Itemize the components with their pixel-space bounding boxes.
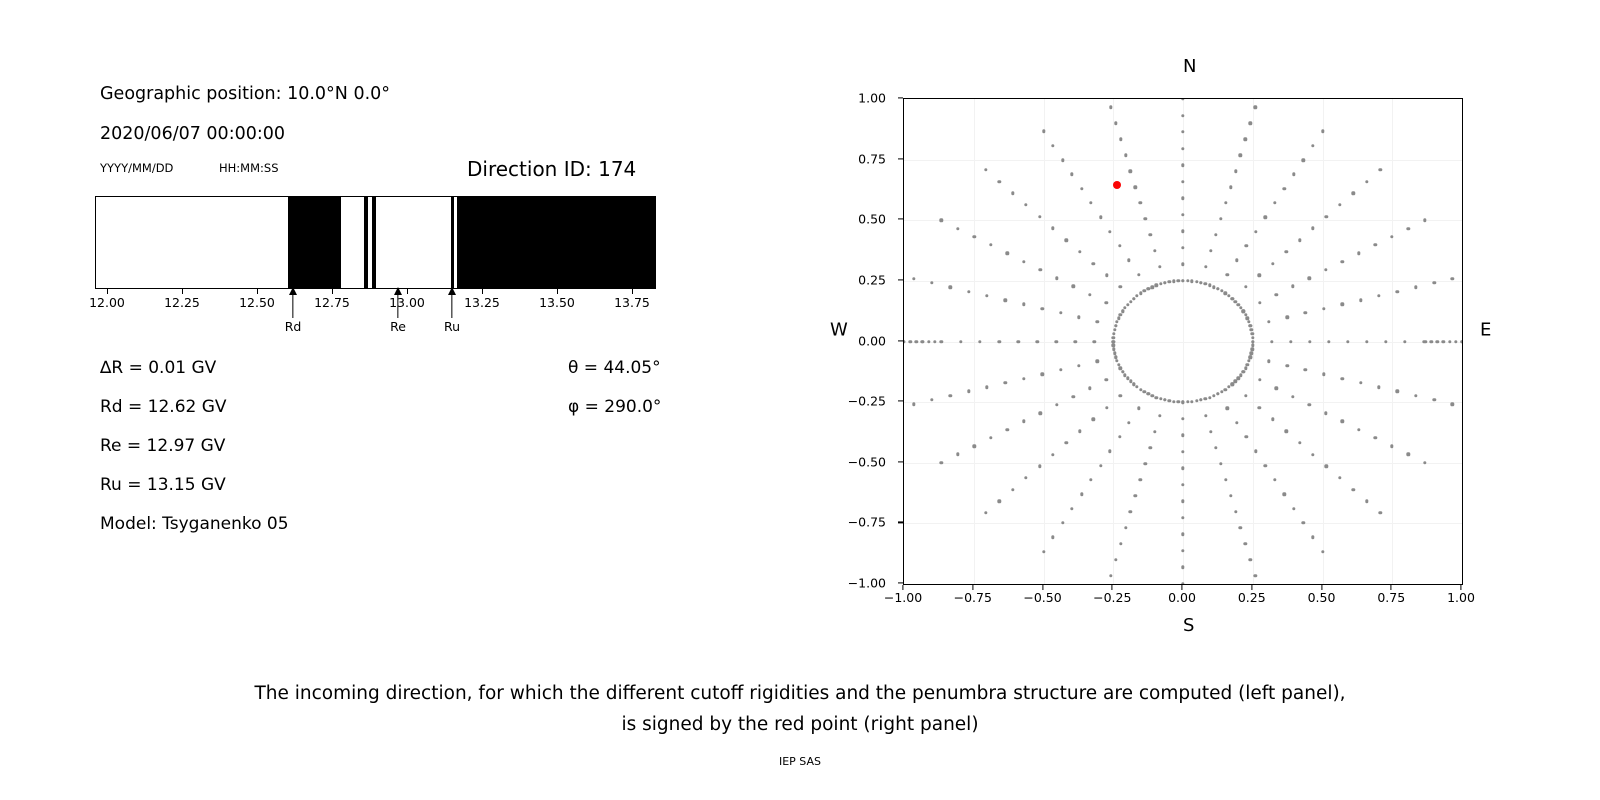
sky-direction-dot bbox=[1234, 169, 1237, 172]
sky-inner-ring-dot bbox=[1224, 388, 1227, 391]
sky-direction-dot bbox=[1311, 535, 1314, 538]
sky-direction-dot bbox=[1365, 500, 1368, 503]
sky-direction-dot bbox=[1039, 268, 1042, 271]
sky-inner-ring-dot bbox=[1126, 303, 1129, 306]
cutoff-value-line: Re = 12.97 GV bbox=[100, 436, 225, 456]
footer-credit: IEP SAS bbox=[0, 755, 1600, 768]
sky-inner-ring-dot bbox=[1195, 280, 1198, 283]
sky-horizon-dot bbox=[1454, 340, 1457, 343]
sky-direction-dot bbox=[984, 511, 987, 514]
sky-direction-dot bbox=[984, 168, 987, 171]
penumbra-axis-tick-label: 12.25 bbox=[164, 295, 200, 310]
angle-value-line: φ = 290.0° bbox=[568, 397, 661, 417]
sky-direction-dot bbox=[1093, 340, 1096, 343]
sky-direction-dot bbox=[1089, 478, 1092, 481]
figure-caption: The incoming direction, for which the di… bbox=[0, 678, 1600, 740]
sky-direction-dot bbox=[1273, 478, 1276, 481]
sky-inner-ring-dot bbox=[1159, 397, 1162, 400]
sky-inner-ring-dot bbox=[1123, 306, 1126, 309]
cutoff-marker-label: Rd bbox=[285, 319, 302, 334]
sky-horizon-dot bbox=[927, 340, 930, 343]
sky-direction-dot bbox=[1109, 106, 1112, 109]
sky-direction-dot bbox=[1258, 406, 1261, 409]
sky-inner-ring-dot bbox=[1155, 396, 1158, 399]
sky-direction-dot bbox=[1264, 464, 1267, 467]
sky-direction-dot bbox=[1324, 411, 1327, 414]
sky-direction-dot bbox=[1270, 340, 1273, 343]
sky-inner-ring-dot bbox=[1112, 348, 1115, 351]
grid-line-vertical bbox=[1323, 99, 1324, 584]
sky-direction-dot bbox=[1244, 138, 1247, 141]
sky-inner-ring-dot bbox=[1186, 279, 1189, 282]
penumbra-panel: Geographic position: 10.0°N 0.0° 2020/06… bbox=[0, 0, 760, 660]
sky-direction-dot bbox=[1327, 340, 1330, 343]
sky-direction-dot bbox=[1244, 542, 1247, 545]
sky-y-axis-tick-label: 0.50 bbox=[858, 212, 886, 227]
sky-direction-dot bbox=[1283, 187, 1286, 190]
penumbra-axis-tick bbox=[107, 289, 108, 294]
sky-direction-dot bbox=[1051, 535, 1054, 538]
sky-direction-dot bbox=[1373, 436, 1376, 439]
sky-inner-ring-dot bbox=[1237, 377, 1240, 380]
sky-direction-dot bbox=[1042, 130, 1045, 133]
sky-direction-dot bbox=[1283, 493, 1286, 496]
sky-direction-dot bbox=[1298, 441, 1301, 444]
sky-direction-dot bbox=[1249, 558, 1252, 561]
sky-direction-dot bbox=[1258, 378, 1261, 381]
sky-direction-dot bbox=[1284, 429, 1287, 432]
penumbra-axis-tick bbox=[257, 289, 258, 294]
sky-direction-dot bbox=[973, 445, 976, 448]
sky-inner-ring-dot bbox=[1119, 313, 1122, 316]
sky-y-axis-tick-label: 0.00 bbox=[858, 333, 886, 348]
sky-direction-dot bbox=[1181, 500, 1184, 503]
sky-direction-dot bbox=[1071, 285, 1074, 288]
sky-direction-dot bbox=[1051, 453, 1054, 456]
sky-direction-dot bbox=[1414, 394, 1417, 397]
sky-direction-dot bbox=[1065, 238, 1068, 241]
sky-direction-dot bbox=[930, 281, 933, 284]
sky-horizon-dot bbox=[1442, 340, 1445, 343]
sky-x-axis-tick-label: −0.75 bbox=[954, 590, 992, 605]
sky-inner-ring-dot bbox=[1135, 294, 1138, 297]
grid-line-vertical bbox=[1392, 99, 1393, 584]
sky-direction-dot bbox=[1124, 153, 1127, 156]
sky-direction-dot bbox=[1139, 201, 1142, 204]
penumbra-x-axis: 12.0012.2512.5012.7513.0013.2513.5013.75… bbox=[95, 289, 656, 303]
cutoff-value-line: Ru = 13.15 GV bbox=[100, 475, 226, 495]
sky-direction-dot bbox=[1384, 340, 1387, 343]
sky-direction-dot bbox=[1292, 507, 1295, 510]
sky-direction-dot bbox=[1258, 301, 1261, 304]
penumbra-axis-tick-label: 13.75 bbox=[614, 295, 650, 310]
sky-y-axis-tick bbox=[898, 340, 903, 341]
sky-direction-dot bbox=[1059, 368, 1062, 371]
arrow-up-icon bbox=[289, 287, 297, 295]
sky-direction-dot bbox=[1042, 550, 1045, 553]
sky-direction-dot bbox=[1118, 244, 1121, 247]
sky-inner-ring-dot bbox=[1220, 390, 1223, 393]
sky-direction-dot bbox=[1377, 385, 1380, 388]
sky-direction-dot bbox=[1004, 298, 1007, 301]
sky-y-axis-tick-label: −0.25 bbox=[848, 394, 886, 409]
sky-direction-dot bbox=[1321, 130, 1324, 133]
sky-map-plot-area bbox=[903, 98, 1463, 585]
sky-direction-dot bbox=[1108, 230, 1111, 233]
sky-direction-dot bbox=[1359, 298, 1362, 301]
sky-inner-ring-dot bbox=[1239, 373, 1242, 376]
sky-direction-dot bbox=[1096, 320, 1099, 323]
sky-y-axis-tick bbox=[898, 582, 903, 583]
sky-direction-dot bbox=[1148, 446, 1151, 449]
sky-direction-dot bbox=[1325, 215, 1328, 218]
sky-direction-dot bbox=[1244, 285, 1247, 288]
sky-direction-dot bbox=[1322, 373, 1325, 376]
sky-direction-dot bbox=[997, 180, 1000, 183]
sky-direction-dot bbox=[1275, 293, 1278, 296]
sky-direction-dot bbox=[1359, 381, 1362, 384]
sky-horizon-dot bbox=[1423, 340, 1426, 343]
sky-direction-dot bbox=[1271, 418, 1274, 421]
sky-direction-dot bbox=[1254, 574, 1257, 577]
sky-direction-dot bbox=[949, 394, 952, 397]
sky-direction-dot bbox=[1092, 262, 1095, 265]
compass-label-east: E bbox=[1480, 320, 1491, 341]
sky-direction-dot bbox=[1226, 407, 1229, 410]
sky-direction-dot bbox=[1226, 273, 1229, 276]
sky-direction-dot bbox=[967, 290, 970, 293]
sky-direction-dot bbox=[1291, 285, 1294, 288]
sky-direction-dot bbox=[1181, 213, 1184, 216]
sky-y-axis-tick-label: −1.00 bbox=[848, 576, 886, 591]
sky-direction-dot bbox=[1006, 252, 1009, 255]
sky-y-axis-tick-label: −0.50 bbox=[848, 454, 886, 469]
sky-inner-ring-dot bbox=[1227, 385, 1230, 388]
sky-direction-dot bbox=[1139, 478, 1142, 481]
sky-direction-dot bbox=[1088, 387, 1091, 390]
sky-horizon-dot bbox=[915, 340, 918, 343]
sky-direction-dot bbox=[1258, 274, 1261, 277]
sky-direction-dot bbox=[1011, 192, 1014, 195]
sky-direction-dot bbox=[1204, 265, 1207, 268]
sky-direction-dot bbox=[1127, 421, 1130, 424]
sky-x-axis-tick-label: 0.00 bbox=[1168, 590, 1196, 605]
sky-direction-dot bbox=[1181, 483, 1184, 486]
sky-direction-dot bbox=[1080, 187, 1083, 190]
sky-direction-dot bbox=[1070, 507, 1073, 510]
sky-direction-dot bbox=[1346, 340, 1349, 343]
sky-direction-dot bbox=[1016, 340, 1019, 343]
sky-direction-dot bbox=[1109, 574, 1112, 577]
sky-x-axis-tick-label: 0.25 bbox=[1238, 590, 1266, 605]
sky-direction-dot bbox=[1181, 263, 1184, 266]
sky-direction-dot bbox=[997, 340, 1000, 343]
sky-direction-dot bbox=[1024, 203, 1027, 206]
sky-horizon-dot bbox=[908, 340, 911, 343]
geographic-position-label: Geographic position: 10.0°N 0.0° bbox=[100, 84, 390, 104]
sky-direction-dot bbox=[1070, 173, 1073, 176]
sky-inner-ring-dot bbox=[1242, 370, 1245, 373]
sky-direction-dot bbox=[1153, 430, 1156, 433]
penumbra-axis-tick-label: 13.50 bbox=[539, 295, 575, 310]
sky-direction-dot bbox=[1322, 307, 1325, 310]
sky-direction-dot bbox=[1292, 173, 1295, 176]
sky-direction-dot bbox=[1181, 230, 1184, 233]
sky-direction-dot bbox=[1104, 378, 1107, 381]
sky-direction-dot bbox=[1423, 219, 1426, 222]
sky-inner-ring-dot bbox=[1112, 332, 1115, 335]
cutoff-value-line: ∆R = 0.01 GV bbox=[100, 358, 216, 378]
sky-x-axis-tick-label: −0.50 bbox=[1023, 590, 1061, 605]
sky-inner-ring-dot bbox=[1146, 287, 1149, 290]
penumbra-axis-tick-label: 12.75 bbox=[314, 295, 350, 310]
sky-direction-dot bbox=[1181, 566, 1184, 569]
sky-inner-ring-dot bbox=[1212, 285, 1215, 288]
direction-id-label: Direction ID: 174 bbox=[467, 157, 636, 181]
sky-direction-dot bbox=[1291, 395, 1294, 398]
sky-inner-ring-dot bbox=[1159, 282, 1162, 285]
sky-direction-dot bbox=[1311, 453, 1314, 456]
sky-direction-dot bbox=[1273, 201, 1276, 204]
sky-direction-dot bbox=[1341, 377, 1344, 380]
sky-inner-ring-dot bbox=[1251, 340, 1254, 343]
sky-inner-ring-dot bbox=[1246, 363, 1249, 366]
sky-inner-ring-dot bbox=[1114, 324, 1117, 327]
sky-direction-dot bbox=[1365, 180, 1368, 183]
sky-direction-dot bbox=[1396, 290, 1399, 293]
sky-direction-dot bbox=[989, 436, 992, 439]
sky-direction-dot bbox=[956, 453, 959, 456]
sky-direction-dot bbox=[1119, 285, 1122, 288]
sky-direction-dot bbox=[1022, 303, 1025, 306]
sky-direction-dot bbox=[1204, 414, 1207, 417]
sky-direction-dot bbox=[985, 294, 988, 297]
sky-direction-dot bbox=[1124, 526, 1127, 529]
sky-direction-dot bbox=[1119, 542, 1122, 545]
penumbra-forbidden-band bbox=[288, 197, 341, 288]
penumbra-axis-tick bbox=[632, 289, 633, 294]
sky-inner-ring-dot bbox=[1190, 280, 1193, 283]
sky-direction-dot bbox=[940, 461, 943, 464]
sky-inner-ring-dot bbox=[1146, 392, 1149, 395]
penumbra-axis-tick-label: 12.00 bbox=[89, 295, 125, 310]
sky-inner-ring-dot bbox=[1112, 344, 1115, 347]
sky-direction-dot bbox=[1129, 510, 1132, 513]
sky-y-axis-tick bbox=[898, 97, 903, 98]
sky-y-axis-tick bbox=[898, 158, 903, 159]
sky-direction-dot bbox=[1024, 476, 1027, 479]
sky-direction-dot bbox=[1181, 114, 1184, 117]
sky-inner-ring-dot bbox=[1249, 324, 1252, 327]
penumbra-axis-tick bbox=[407, 289, 408, 294]
sky-inner-ring-dot bbox=[1234, 380, 1237, 383]
sky-inner-ring-dot bbox=[1181, 400, 1184, 403]
sky-map-panel: N S W E 1.000.750.500.250.00−0.25−0.50−0… bbox=[820, 40, 1520, 660]
sky-direction-dot bbox=[1181, 467, 1184, 470]
sky-direction-dot bbox=[1235, 259, 1238, 262]
sky-direction-dot bbox=[1414, 286, 1417, 289]
sky-direction-dot bbox=[1134, 494, 1137, 497]
sky-direction-dot bbox=[1325, 465, 1328, 468]
sky-direction-dot bbox=[1224, 478, 1227, 481]
sky-inner-ring-dot bbox=[1172, 280, 1175, 283]
sky-inner-ring-dot bbox=[1181, 279, 1184, 282]
sky-direction-dot bbox=[1302, 158, 1305, 161]
sky-direction-dot bbox=[1055, 403, 1058, 406]
sky-direction-dot bbox=[1324, 268, 1327, 271]
sky-y-axis-tick-label: 0.25 bbox=[858, 272, 886, 287]
sky-direction-dot bbox=[1022, 377, 1025, 380]
sky-inner-ring-dot bbox=[1244, 367, 1247, 370]
sky-direction-dot bbox=[989, 243, 992, 246]
sky-inner-ring-dot bbox=[1231, 383, 1234, 386]
sky-direction-dot bbox=[1311, 144, 1314, 147]
cutoff-value-line: Model: Tsyganenko 05 bbox=[100, 514, 289, 534]
sky-direction-dot bbox=[1118, 435, 1121, 438]
sky-direction-dot bbox=[1239, 153, 1242, 156]
sky-direction-dot bbox=[1352, 192, 1355, 195]
penumbra-bar-container bbox=[95, 196, 656, 289]
sky-direction-dot bbox=[1039, 411, 1042, 414]
sky-direction-dot bbox=[1341, 420, 1344, 423]
sky-inner-ring-dot bbox=[1199, 281, 1202, 284]
penumbra-axis-tick-label: 13.25 bbox=[464, 295, 500, 310]
penumbra-forbidden-band bbox=[364, 197, 368, 288]
sky-x-axis-tick-label: −0.25 bbox=[1093, 590, 1131, 605]
penumbra-axis-tick-label: 13.00 bbox=[389, 295, 425, 310]
sky-direction-dot bbox=[1451, 403, 1454, 406]
sky-direction-dot bbox=[1298, 238, 1301, 241]
sky-direction-dot bbox=[1209, 430, 1212, 433]
sky-direction-dot bbox=[1137, 407, 1140, 410]
sky-direction-dot bbox=[985, 385, 988, 388]
sky-direction-dot bbox=[1234, 510, 1237, 513]
sky-direction-dot bbox=[1006, 428, 1009, 431]
sky-direction-dot bbox=[1054, 340, 1057, 343]
sky-direction-dot bbox=[1153, 249, 1156, 252]
sky-direction-dot bbox=[1105, 274, 1108, 277]
sky-x-axis-tick-label: 1.00 bbox=[1447, 590, 1475, 605]
sky-direction-dot bbox=[1357, 428, 1360, 431]
sky-x-axis-tick-label: 0.50 bbox=[1308, 590, 1336, 605]
sky-direction-dot bbox=[1264, 216, 1267, 219]
sky-direction-dot bbox=[1245, 244, 1248, 247]
sky-direction-dot bbox=[1088, 293, 1091, 296]
sky-direction-dot bbox=[978, 340, 981, 343]
sky-direction-dot bbox=[1377, 294, 1380, 297]
penumbra-axis-tick bbox=[182, 289, 183, 294]
sky-direction-dot bbox=[1249, 122, 1252, 125]
sky-direction-dot bbox=[1338, 203, 1341, 206]
sky-direction-dot bbox=[1341, 260, 1344, 263]
sky-direction-dot bbox=[1077, 364, 1080, 367]
sky-direction-dot bbox=[973, 235, 976, 238]
sky-y-axis-tick-label: −0.75 bbox=[848, 515, 886, 530]
sky-direction-dot bbox=[1181, 130, 1184, 133]
sky-inner-ring-dot bbox=[1208, 396, 1211, 399]
sky-y-axis-tick bbox=[898, 279, 903, 280]
sky-direction-dot bbox=[1239, 526, 1242, 529]
sky-direction-dot bbox=[1181, 98, 1184, 101]
sky-direction-dot bbox=[1104, 301, 1107, 304]
sky-direction-dot bbox=[1352, 488, 1355, 491]
sky-direction-dot bbox=[1129, 169, 1132, 172]
compass-label-west: W bbox=[830, 320, 848, 341]
selected-direction-marker[interactable] bbox=[1113, 181, 1121, 189]
sky-direction-dot bbox=[1284, 250, 1287, 253]
sky-direction-dot bbox=[1275, 387, 1278, 390]
sky-direction-dot bbox=[1373, 243, 1376, 246]
sky-direction-dot bbox=[1245, 435, 1248, 438]
sky-direction-dot bbox=[956, 227, 959, 230]
sky-inner-ring-dot bbox=[1150, 285, 1153, 288]
sky-direction-dot bbox=[1285, 364, 1288, 367]
sky-direction-dot bbox=[1254, 230, 1257, 233]
sky-horizon-dot bbox=[1436, 340, 1439, 343]
sky-direction-dot bbox=[1341, 303, 1344, 306]
sky-direction-dot bbox=[1406, 453, 1409, 456]
penumbra-forbidden-band bbox=[372, 197, 376, 288]
sky-direction-dot bbox=[1308, 340, 1311, 343]
sky-direction-dot bbox=[1403, 340, 1406, 343]
sky-direction-dot bbox=[1071, 395, 1074, 398]
angle-value-line: θ = 44.05° bbox=[568, 358, 661, 378]
sky-direction-dot bbox=[912, 403, 915, 406]
sky-direction-dot bbox=[1089, 201, 1092, 204]
sky-direction-dot bbox=[1127, 259, 1130, 262]
sky-inner-ring-dot bbox=[1112, 336, 1115, 339]
sky-inner-ring-dot bbox=[1208, 284, 1211, 287]
sky-direction-dot bbox=[1304, 368, 1307, 371]
sky-direction-dot bbox=[1158, 265, 1161, 268]
sky-direction-dot bbox=[1078, 250, 1081, 253]
sky-inner-ring-dot bbox=[1113, 328, 1116, 331]
sky-inner-ring-dot bbox=[1212, 394, 1215, 397]
sky-direction-dot bbox=[1267, 360, 1270, 363]
sky-inner-ring-dot bbox=[1204, 282, 1207, 285]
sky-y-axis-tick bbox=[898, 461, 903, 462]
sky-direction-dot bbox=[1214, 233, 1217, 236]
sky-direction-dot bbox=[1114, 122, 1117, 125]
sky-direction-dot bbox=[940, 219, 943, 222]
sky-direction-dot bbox=[1214, 446, 1217, 449]
cutoff-marker-label: Re bbox=[390, 319, 406, 334]
sky-inner-ring-dot bbox=[1251, 344, 1254, 347]
sky-inner-ring-dot bbox=[1251, 336, 1254, 339]
sky-direction-dot bbox=[1022, 260, 1025, 263]
sky-y-axis-tick bbox=[898, 219, 903, 220]
penumbra-forbidden-band bbox=[457, 197, 656, 288]
time-format-hint: HH:MM:SS bbox=[219, 161, 279, 175]
sky-direction-dot bbox=[1035, 340, 1038, 343]
sky-direction-dot bbox=[1181, 533, 1184, 536]
arrow-up-icon bbox=[394, 287, 402, 295]
cutoff-value-line: Rd = 12.62 GV bbox=[100, 397, 227, 417]
sky-direction-dot bbox=[1148, 233, 1151, 236]
sky-direction-dot bbox=[1181, 516, 1184, 519]
sky-direction-dot bbox=[1432, 281, 1435, 284]
grid-line-horizontal bbox=[904, 220, 1462, 221]
sky-direction-dot bbox=[1311, 227, 1314, 230]
sky-inner-ring-dot bbox=[1177, 279, 1180, 282]
sky-inner-ring-dot bbox=[1129, 300, 1132, 303]
sky-direction-dot bbox=[1181, 450, 1184, 453]
sky-inner-ring-dot bbox=[1113, 352, 1116, 355]
sky-inner-ring-dot bbox=[1143, 289, 1146, 292]
sky-direction-dot bbox=[1065, 441, 1068, 444]
sky-direction-dot bbox=[1080, 493, 1083, 496]
sky-horizon-dot bbox=[921, 340, 924, 343]
